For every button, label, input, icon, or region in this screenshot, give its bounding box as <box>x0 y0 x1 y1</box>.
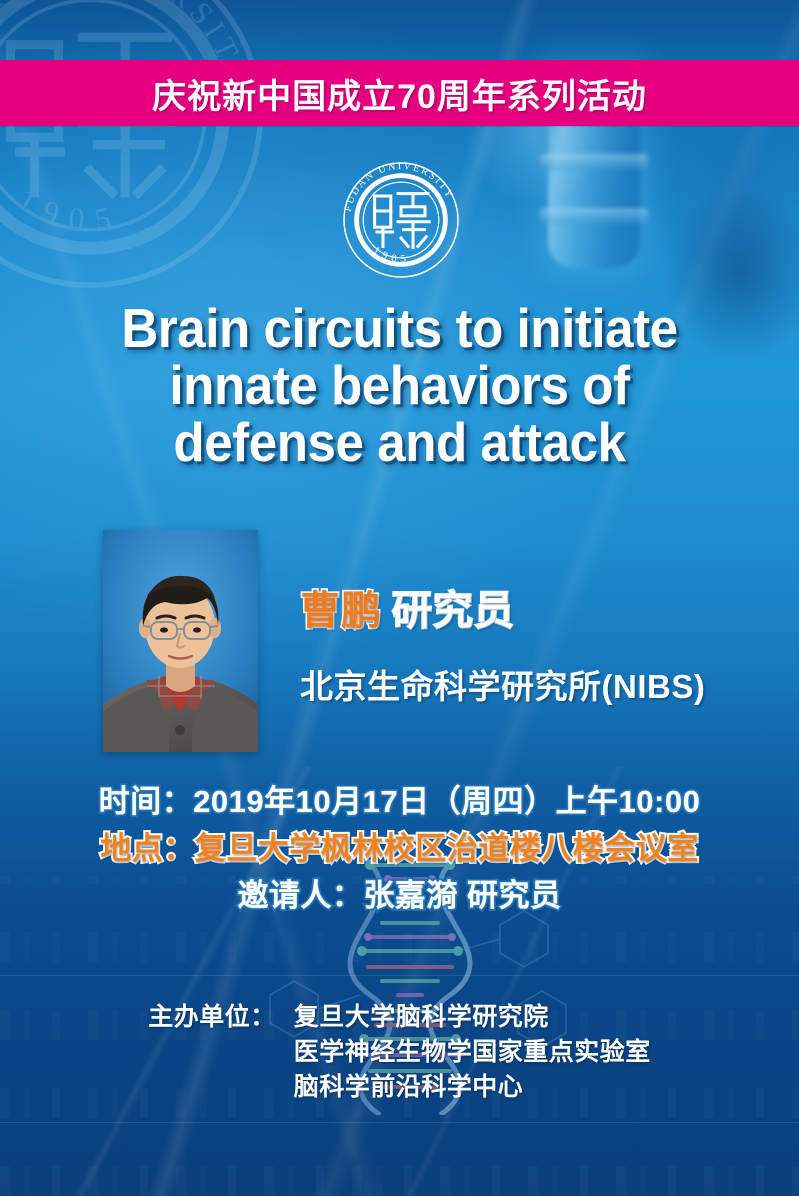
seminar-poster: FUDAN UNIVERSITY 1905 <box>0 0 799 1196</box>
detail-time: 时间：2019年10月17日（周四）上午10:00 <box>0 778 799 825</box>
detail-venue: 地点：复旦大学枫林校区治道楼八楼会议室 <box>0 825 799 872</box>
speaker-academic-title: 研究员 <box>392 589 515 633</box>
speaker-name-row: 曹鹏研究员 <box>300 578 515 636</box>
organizers-label: 主办单位： <box>148 1000 276 1035</box>
detail-time-label: 时间： <box>99 784 194 819</box>
svg-text:1905: 1905 <box>371 244 412 265</box>
detail-host-label: 邀请人： <box>237 878 363 913</box>
speaker-affiliation: 北京生命科学研究所(NIBS) <box>300 660 705 708</box>
detail-host-value: 张嘉漪 研究员 <box>363 878 561 913</box>
event-details: 时间：2019年10月17日（周四）上午10:00 地点：复旦大学枫林校区治道楼… <box>0 778 799 919</box>
title-line-2: innate behaviors of <box>50 357 748 414</box>
fudan-university-logo: FUDAN UNIVERSITY 1905 <box>341 160 461 280</box>
title-line-1: Brain circuits to initiate <box>50 300 748 357</box>
detail-venue-label: 地点： <box>100 831 195 866</box>
speaker-photo <box>103 530 258 752</box>
poster-title: Brain circuits to initiate innate behavi… <box>0 300 799 471</box>
detail-host: 邀请人：张嘉漪 研究员 <box>0 872 799 919</box>
detail-time-value: 2019年10月17日（周四）上午10:00 <box>193 784 700 819</box>
banner-text: 庆祝新中国成立70周年系列活动 <box>152 69 647 118</box>
organizer-item-2: 医学神经生物学国家重点实验室 <box>294 1035 651 1070</box>
celebration-banner: 庆祝新中国成立70周年系列活动 <box>0 60 799 126</box>
organizer-item-3: 脑科学前沿科学中心 <box>294 1070 651 1105</box>
speaker-name: 曹鹏 <box>300 589 382 633</box>
organizer-item-1: 复旦大学脑科学研究院 <box>294 1000 651 1035</box>
detail-venue-value: 复旦大学枫林校区治道楼八楼会议室 <box>195 831 699 866</box>
title-line-3: defense and attack <box>50 414 748 471</box>
organizers-block: 主办单位： 复旦大学脑科学研究院 医学神经生物学国家重点实验室 脑科学前沿科学中… <box>0 1000 799 1105</box>
